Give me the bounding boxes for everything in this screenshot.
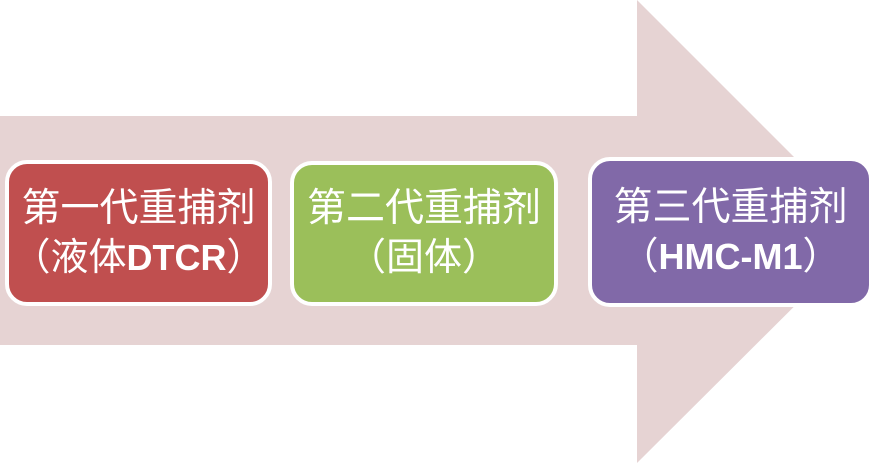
stage-1-paren-open: （ bbox=[12, 237, 50, 279]
stage-3-subtitle: （HMC-M1） bbox=[620, 235, 840, 280]
stage-box-second-generation[interactable]: 第二代重捕剂 （固体） bbox=[290, 161, 558, 306]
stage-3-subtitle-latin: HMC-M1 bbox=[659, 236, 803, 277]
stage-box-third-generation[interactable]: 第三代重捕剂 （HMC-M1） bbox=[588, 157, 869, 307]
stage-1-subtitle-cjk: 液体 bbox=[51, 237, 127, 279]
stage-2-paren-close: ） bbox=[462, 237, 500, 279]
stage-2-paren-open: （ bbox=[348, 237, 386, 279]
stage-1-paren-close: ） bbox=[227, 237, 265, 279]
stage-1-subtitle: （液体DTCR） bbox=[12, 236, 264, 281]
stage-2-title: 第二代重捕剂 bbox=[307, 186, 541, 232]
stage-box-first-generation[interactable]: 第一代重捕剂 （液体DTCR） bbox=[5, 160, 272, 306]
stage-3-title: 第三代重捕剂 bbox=[613, 185, 847, 231]
stage-2-subtitle: （固体） bbox=[348, 236, 500, 281]
stage-3-paren-close: ） bbox=[802, 236, 840, 278]
stage-1-subtitle-latin: DTCR bbox=[127, 237, 227, 278]
stage-2-subtitle-cjk: 固体 bbox=[386, 237, 462, 279]
stage-3-paren-open: （ bbox=[620, 236, 658, 278]
stage-1-title: 第一代重捕剂 bbox=[21, 186, 255, 232]
diagram-canvas: 第一代重捕剂 （液体DTCR） 第二代重捕剂 （固体） 第三代重捕剂 （HMC-… bbox=[0, 0, 869, 463]
